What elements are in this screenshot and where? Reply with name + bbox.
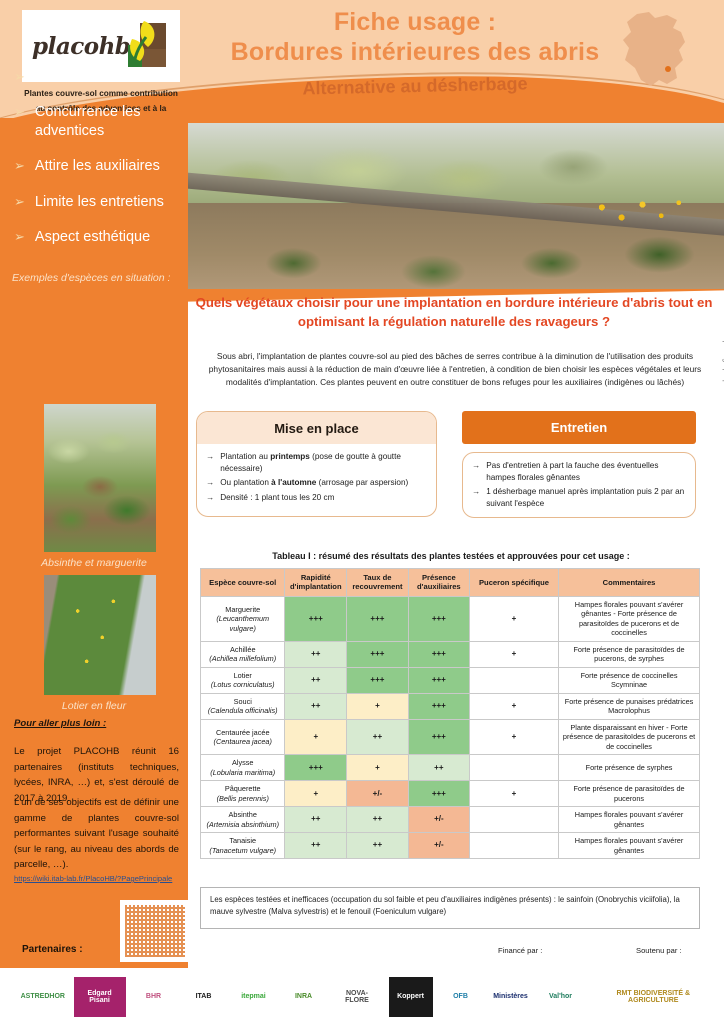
photo-caption-1: Absinthe et marguerite: [0, 557, 188, 569]
rating-cell: +++: [408, 693, 469, 719]
partner-logo: itepmai: [232, 977, 276, 1017]
list-item: ➢ Attire les auxiliaires: [14, 157, 190, 176]
rating-cell: ++: [347, 807, 409, 833]
list-item: → Densité : 1 plant tous les 20 cm: [206, 492, 427, 504]
partner-logo: INRA: [282, 977, 326, 1017]
rating-cell: +++: [347, 641, 409, 667]
rating-cell: ++: [347, 833, 409, 859]
arrow-icon: ➢: [14, 68, 25, 86]
hero-flowers: [582, 189, 692, 235]
item-text: Ou plantation à l'automne (arrosage par …: [220, 477, 408, 489]
pour-aller-plus-loin-heading: Pour aller plus loin :: [14, 718, 179, 729]
table-row: Achillée(Achillea millefolium)+++++++++F…: [201, 641, 700, 667]
benefit-label: Aspect esthétique: [35, 228, 150, 247]
arrow-icon: →: [206, 477, 214, 489]
table-row: Marguerite(Leucanthemum vulgare)++++++++…: [201, 596, 700, 641]
poster-title-block: Fiche usage : Bordures intérieures des a…: [200, 8, 630, 97]
table-row: Lotier(Lotus corniculatus)++++++++Forte …: [201, 667, 700, 693]
comment-cell: Forte présence de coccinelles Scymninae: [559, 667, 700, 693]
finance-label: Financé par :: [498, 946, 542, 955]
table-row: Absinthe(Artemisia absinthium)+++++/-Ham…: [201, 807, 700, 833]
comment-cell: Forte présence de parasitoïdes de pucero…: [559, 781, 700, 807]
benefit-label: Attire les auxiliaires: [35, 157, 160, 176]
species-cell: Absinthe(Artemisia absinthium): [201, 807, 285, 833]
puceron-cell: +: [469, 693, 558, 719]
soutenu-label: Soutenu par :: [636, 946, 682, 955]
puceron-cell: [469, 667, 558, 693]
benefit-label: Limite les entretiens: [35, 193, 164, 212]
partner-logo: RMT BIODIVERSITÉ & AGRICULTURE: [589, 977, 719, 1017]
mise-en-place-title: Mise en place: [197, 412, 436, 444]
comment-cell: Forte présence de parasitoïdes de pucero…: [559, 641, 700, 667]
item-text: 1 désherbage manuel après implantation p…: [486, 486, 686, 509]
puceron-cell: +: [469, 719, 558, 754]
entretien-list: → Pas d'entretien à part la fauche des é…: [463, 453, 695, 510]
puceron-cell: +: [469, 641, 558, 667]
benefits-list: ➢ Couverture du sol ➢ Concurrence les ad…: [14, 68, 190, 263]
partner-logo: Ministères: [489, 977, 533, 1017]
partner-logo: Edgard Pisani: [74, 977, 126, 1017]
rating-cell: +/-: [408, 833, 469, 859]
rating-cell: +/-: [408, 807, 469, 833]
rating-cell: +++: [347, 596, 409, 641]
list-item: → Pas d'entretien à part la fauche des é…: [472, 460, 686, 483]
partner-logo: BHR: [132, 977, 176, 1017]
intro-paragraph: Sous abri, l'implantation de plantes cou…: [196, 350, 714, 389]
table-row: Pâquerette(Bellis perennis)++/-++++Forte…: [201, 781, 700, 807]
table-header-cell: Commentaires: [559, 569, 700, 597]
species-cell: Lotier(Lotus corniculatus): [201, 667, 285, 693]
sidebar-paragraph-2: L'un de ses objectifs est de définir une…: [14, 795, 179, 873]
table-row: Tanaisie(Tanacetum vulgare)+++++/-Hampes…: [201, 833, 700, 859]
species-cell: Marguerite(Leucanthemum vulgare): [201, 596, 285, 641]
table-row: Alysse(Lobularia maritima)++++++Forte pr…: [201, 755, 700, 781]
species-cell: Alysse(Lobularia maritima): [201, 755, 285, 781]
mise-en-place-box: Mise en place → Plantation au printemps …: [196, 411, 437, 517]
comment-cell: Hampes florales pouvant s'avérer gênante…: [559, 596, 700, 641]
partner-logo: Koppert: [389, 977, 433, 1017]
comment-cell: Plante disparaissant en hiver - Forte pr…: [559, 719, 700, 754]
table-header-cell: Espèce couvre-sol: [201, 569, 285, 597]
page-title-line2: Bordures intérieures des abris: [200, 38, 630, 68]
species-cell: Tanaisie(Tanacetum vulgare): [201, 833, 285, 859]
table-header-cell: Taux de recouvrement: [347, 569, 409, 597]
species-cell: Achillée(Achillea millefolium): [201, 641, 285, 667]
list-item: → 1 désherbage manuel après implantation…: [472, 486, 686, 509]
table-header-cell: Puceron spécifique: [469, 569, 558, 597]
arrow-icon: ➢: [14, 157, 25, 175]
leaf-logo-icon: [114, 19, 168, 71]
puceron-cell: [469, 833, 558, 859]
rating-cell: +: [347, 693, 409, 719]
photo-absinthe-marguerite: [44, 404, 156, 552]
entretien-title: Entretien: [462, 411, 696, 444]
comment-cell: Hampes florales pouvant s'avérer gênante…: [559, 807, 700, 833]
partner-logo: ITAB: [182, 977, 226, 1017]
list-item: → Plantation au printemps (pose de goutt…: [206, 451, 427, 474]
table-row: Souci(Calendula officinalis)+++++++Forte…: [201, 693, 700, 719]
arrow-icon: ➢: [14, 228, 25, 246]
hero-photo: [186, 123, 724, 289]
rating-cell: +++: [285, 755, 347, 781]
rating-cell: ++: [408, 755, 469, 781]
qr-code-icon[interactable]: [120, 900, 190, 962]
rating-cell: +++: [408, 596, 469, 641]
arrow-icon: →: [472, 486, 480, 509]
rating-cell: +: [285, 719, 347, 754]
list-item: ➢ Concurrence les adventices: [14, 103, 190, 141]
arrow-icon: →: [472, 460, 480, 483]
item-text: Plantation au printemps (pose de goutte …: [220, 451, 427, 474]
partner-logo: OFB: [439, 977, 483, 1017]
list-item: ➢ Limite les entretiens: [14, 193, 190, 212]
puceron-cell: +: [469, 596, 558, 641]
puceron-cell: +: [469, 781, 558, 807]
rating-cell: +/-: [347, 781, 409, 807]
partner-logo: NOVA-FLORE: [332, 977, 383, 1017]
species-results-table: Espèce couvre-solRapidité d'implantation…: [200, 568, 700, 859]
rating-cell: ++: [347, 719, 409, 754]
arrow-icon: ➢: [14, 193, 25, 211]
comment-cell: Forte présence de punaises prédatrices M…: [559, 693, 700, 719]
entretien-box: → Pas d'entretien à part la fauche des é…: [462, 452, 696, 518]
rating-cell: +++: [408, 641, 469, 667]
benefit-label: Concurrence les adventices: [35, 103, 190, 141]
examples-label: Exemples d'espèces en situation :: [12, 272, 188, 284]
comment-cell: Forte présence de syrphes: [559, 755, 700, 781]
table-row: Centaurée jacée(Centaurea jacea)+++++++P…: [201, 719, 700, 754]
rating-cell: +++: [408, 667, 469, 693]
project-wiki-link[interactable]: https://wiki.itab-lab.fr/PlacoHB/?PagePr…: [14, 874, 186, 883]
rating-cell: ++: [285, 833, 347, 859]
rating-cell: +++: [408, 781, 469, 807]
table-header-cell: Rapidité d'implantation: [285, 569, 347, 597]
rating-cell: ++: [285, 641, 347, 667]
table-caption: Tableau I : résumé des résultats des pla…: [196, 551, 706, 561]
main-question: Quels végétaux choisir pour une implanta…: [192, 293, 716, 331]
arrow-icon: ➢: [14, 103, 25, 121]
table-header-cell: Présence d'auxiliaires: [408, 569, 469, 597]
footnote-box: Les espèces testées et inefficaces (occu…: [200, 887, 700, 929]
page-title-line1: Fiche usage :: [200, 8, 630, 38]
list-item: ➢ Couverture du sol: [14, 68, 190, 87]
partenaires-label: Partenaires :: [22, 944, 83, 955]
puceron-cell: [469, 807, 558, 833]
partner-logos-strip: ASTREDHOREdgard PisaniBHRITABitepmaiINRA…: [18, 972, 718, 1022]
arrow-icon: →: [206, 492, 214, 504]
photo-lotier: [44, 575, 156, 695]
list-item: ➢ Aspect esthétique: [14, 228, 190, 247]
rating-cell: ++: [285, 667, 347, 693]
poster-page: placohb Plantes couvre-sol comme contrib…: [0, 0, 724, 1024]
benefit-label: Couverture du sol: [35, 68, 149, 87]
puceron-cell: [469, 755, 558, 781]
mise-en-place-list: → Plantation au printemps (pose de goutt…: [197, 444, 436, 504]
species-cell: Centaurée jacée(Centaurea jacea): [201, 719, 285, 754]
species-cell: Pâquerette(Bellis perennis): [201, 781, 285, 807]
rating-cell: ++: [285, 693, 347, 719]
partner-logo: ASTREDHOR: [18, 977, 68, 1017]
rating-cell: +++: [285, 596, 347, 641]
rating-cell: ++: [285, 807, 347, 833]
list-item: → Ou plantation à l'automne (arrosage pa…: [206, 477, 427, 489]
rating-cell: +: [285, 781, 347, 807]
item-text: Pas d'entretien à part la fauche des éve…: [486, 460, 686, 483]
france-map-icon: [615, 10, 695, 96]
rating-cell: +++: [408, 719, 469, 754]
partner-logo: Val'hor: [539, 977, 583, 1017]
item-text: Densité : 1 plant tous les 20 cm: [220, 492, 334, 504]
comment-cell: Hampes florales pouvant s'avérer gênante…: [559, 833, 700, 859]
rating-cell: +++: [347, 667, 409, 693]
photo-caption-2: Lotier en fleur: [0, 700, 188, 712]
rating-cell: +: [347, 755, 409, 781]
table-header-row: Espèce couvre-solRapidité d'implantation…: [201, 569, 700, 597]
arrow-icon: →: [206, 451, 214, 474]
species-cell: Souci(Calendula officinalis): [201, 693, 285, 719]
